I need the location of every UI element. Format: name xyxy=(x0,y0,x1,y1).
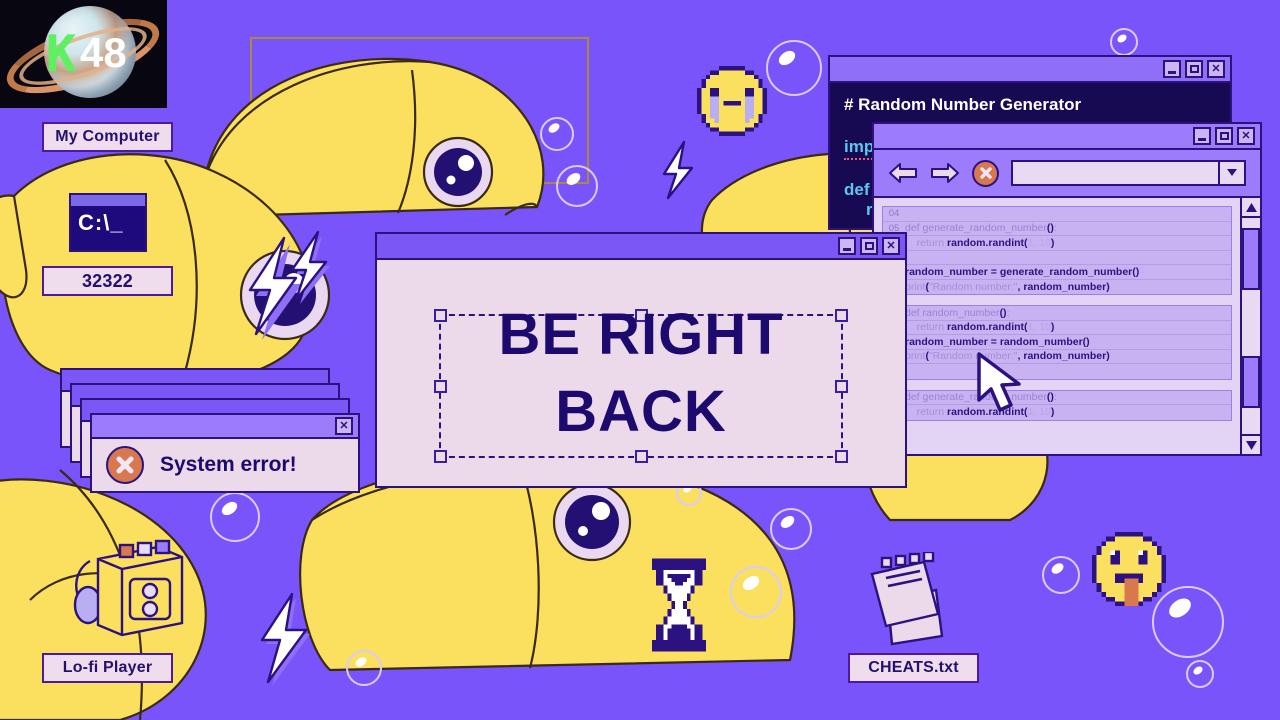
hourglass-wait-cursor xyxy=(648,556,710,654)
code-line-text: def generate_random_number(): xyxy=(905,391,1231,403)
browser-maximize-button[interactable] xyxy=(1215,127,1233,145)
label-cheats-file-text: CHEATS.txt xyxy=(868,659,959,677)
label-number-tile[interactable]: 32322 xyxy=(42,266,173,296)
code-line-text: random_number = generate_random_number() xyxy=(905,266,1231,278)
code-line-text: def generate_random_number(): xyxy=(905,222,1231,234)
code-line-text: random_number = random_number() xyxy=(905,336,1231,348)
code-line: 01def generate_random_number(): xyxy=(883,391,1231,406)
code-line: 03random_number = random_number() xyxy=(883,335,1231,350)
bubble xyxy=(346,650,382,686)
label-my-computer[interactable]: My Computer xyxy=(42,122,173,152)
code-line: 08random_number = generate_random_number… xyxy=(883,265,1231,280)
minimize-icon xyxy=(1168,71,1176,74)
code-close-button[interactable]: ✕ xyxy=(1207,60,1225,78)
label-lofi-player[interactable]: Lo-fi Player xyxy=(42,653,173,683)
minimize-icon xyxy=(843,248,851,251)
badge-number: 48 xyxy=(80,32,127,74)
bubble xyxy=(770,508,812,550)
brb-line-1: BE RIGHT xyxy=(498,296,783,373)
code-block: 0405def generate_random_number():06 retu… xyxy=(882,206,1232,295)
code-block: 01def generate_random_number():02 return… xyxy=(882,390,1232,421)
bubble xyxy=(556,165,598,207)
label-number-tile-text: 32322 xyxy=(82,271,133,292)
code-line: 09print("Random number:", random_number) xyxy=(883,280,1231,295)
command-prompt-tile[interactable]: C:\_ xyxy=(69,193,147,252)
error-message: System error! xyxy=(160,453,297,477)
brb-title-bar[interactable]: ✕ xyxy=(377,234,905,260)
lightning-bolt-1 xyxy=(250,238,302,340)
code-line-text: return random.randint(1, 10) xyxy=(905,321,1231,333)
scroll-up-button[interactable] xyxy=(1242,198,1260,218)
brb-close-button[interactable]: ✕ xyxy=(882,237,900,255)
maximize-icon xyxy=(1220,132,1229,140)
scrollbar-thumb[interactable] xyxy=(1242,228,1260,290)
label-cheats-file[interactable]: CHEATS.txt xyxy=(848,653,979,683)
brb-body: BE RIGHT BACK xyxy=(377,260,905,486)
x-glyph-icon xyxy=(113,453,137,477)
browser-title-bar[interactable]: ✕ xyxy=(874,124,1260,150)
code-line: 05def generate_random_number(): xyxy=(883,222,1231,237)
walkman-player-icon[interactable] xyxy=(58,535,198,645)
code-line: 04 xyxy=(883,207,1231,222)
scrollbar-thumb-lower[interactable] xyxy=(1242,356,1260,408)
code-line-text: return random.randint(1, 10) xyxy=(905,237,1231,249)
code-minimize-button[interactable] xyxy=(1163,60,1181,78)
brb-message: BE RIGHT BACK xyxy=(377,260,905,486)
code-line: 01def random_number(): xyxy=(883,306,1231,321)
fish-bottom-center xyxy=(300,461,794,670)
lightning-bolt-4 xyxy=(262,594,310,686)
scroll-down-button[interactable] xyxy=(1242,434,1260,454)
code-line: 02 return random.randint(1, 10) xyxy=(883,321,1231,336)
fish-top-center xyxy=(205,59,543,215)
error-circle-x-icon xyxy=(106,446,144,484)
code-listing[interactable]: 0405def generate_random_number():06 retu… xyxy=(874,198,1240,454)
x-glyph-icon xyxy=(978,165,994,181)
be-right-back-window[interactable]: ✕ BE RIGHT BACK xyxy=(375,232,907,488)
maximize-icon xyxy=(865,242,874,250)
mouse-pointer-cursor xyxy=(975,352,1027,414)
code-maximize-button[interactable] xyxy=(1185,60,1203,78)
chevron-down-icon[interactable] xyxy=(1218,162,1244,184)
browser-minimize-button[interactable] xyxy=(1193,127,1211,145)
vertical-scrollbar[interactable] xyxy=(1240,198,1260,454)
back-arrow-icon[interactable] xyxy=(888,162,918,184)
close-icon: ✕ xyxy=(1241,131,1250,142)
line-number: 04 xyxy=(883,208,905,219)
fish-left-middle xyxy=(0,139,329,388)
desktop-scene: .fishbody{fill:#fbdf5f;stroke:#3b2a12;st… xyxy=(0,0,1280,720)
stop-icon[interactable] xyxy=(972,160,999,187)
forward-arrow-icon[interactable] xyxy=(930,162,960,184)
code-block: 01def random_number():02 return random.r… xyxy=(882,305,1232,380)
code-line-text: return random.randint(1, 10) xyxy=(905,406,1231,418)
bubble xyxy=(766,40,822,96)
crying-face-emoji xyxy=(697,66,767,136)
code-title-bar[interactable]: ✕ xyxy=(830,57,1230,83)
system-error-dialog[interactable]: ✕ System error! xyxy=(90,413,360,493)
code-line: 05 xyxy=(883,364,1231,379)
bubble xyxy=(210,492,260,542)
address-bar[interactable] xyxy=(1011,160,1246,186)
cmd-title-bar xyxy=(71,195,145,206)
badge-logo-letter: K xyxy=(46,29,74,79)
bubble xyxy=(1186,660,1214,688)
scrollbar-track[interactable] xyxy=(1242,218,1260,434)
brb-line-2: BACK xyxy=(555,373,727,450)
lightning-bolt-3 xyxy=(664,142,692,198)
channel-badge: K 48 xyxy=(0,0,167,108)
code-line-text: print("Random number:", random_number) xyxy=(905,281,1231,293)
lightning-bolt-2 xyxy=(292,232,330,304)
code-line-text: def random_number(): xyxy=(905,307,1231,319)
tongue-out-face-emoji xyxy=(1092,532,1166,606)
browser-close-button[interactable]: ✕ xyxy=(1237,127,1255,145)
close-icon: ✕ xyxy=(339,421,348,432)
url-input[interactable] xyxy=(1013,162,1218,184)
cmd-prompt-text: C:\_ xyxy=(71,206,145,236)
browser-content: 0405def generate_random_number():06 retu… xyxy=(874,198,1260,454)
error-close-button[interactable]: ✕ xyxy=(335,417,353,435)
bubble xyxy=(730,566,782,618)
code-line: 07 xyxy=(883,251,1231,266)
code-line: 04print("Random number:", random_number) xyxy=(883,350,1231,365)
code-comment-line: # Random Number Generator xyxy=(844,95,1216,115)
error-title-bar[interactable]: ✕ xyxy=(92,415,358,439)
label-lofi-player-text: Lo-fi Player xyxy=(63,659,153,677)
brb-maximize-button[interactable] xyxy=(860,237,878,255)
brb-minimize-button[interactable] xyxy=(838,237,856,255)
browser-window[interactable]: ✕ 0405def generate_random_numbe xyxy=(872,122,1262,456)
bubble xyxy=(540,117,574,151)
code-line-text: print("Random number:", random_number) xyxy=(905,350,1231,362)
bubble xyxy=(1042,556,1080,594)
code-line: 06 return random.randint(1, 10) xyxy=(883,236,1231,251)
label-my-computer-text: My Computer xyxy=(55,128,159,146)
browser-toolbar xyxy=(874,150,1260,198)
error-window-stack: ✕ System error! xyxy=(60,368,360,493)
maximize-icon xyxy=(1190,65,1199,73)
minimize-icon xyxy=(1198,138,1206,141)
bubble xyxy=(1110,28,1138,56)
close-icon: ✕ xyxy=(1211,64,1220,75)
code-line: 02 return random.randint(1, 10) xyxy=(883,405,1231,420)
close-icon: ✕ xyxy=(886,241,895,252)
notepad-file-icon[interactable] xyxy=(862,552,950,646)
